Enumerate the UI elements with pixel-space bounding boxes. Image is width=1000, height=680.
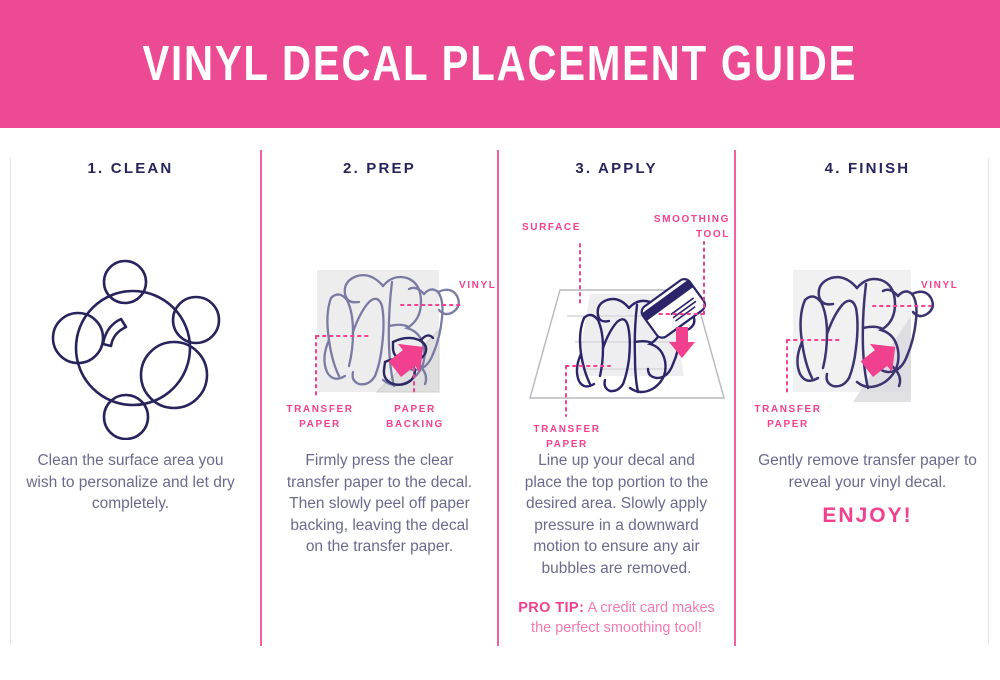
- header-banner: VINYL DECAL PLACEMENT GUIDE: [0, 0, 1000, 128]
- step-column-clean: 1. CLEAN Clean the surface area you wish…: [0, 150, 261, 650]
- enjoy-text: ENJOY!: [757, 505, 978, 527]
- step-heading-prep: 2. PREP: [261, 150, 498, 190]
- bubbles-illustration: [0, 190, 261, 440]
- callout-transfer-paper-apply: TRANSFER PAPER: [518, 422, 616, 452]
- callout-vinyl-prep: VINYL: [459, 278, 496, 293]
- illustration-finish: VINYL TRANSFER PAPER: [735, 190, 1000, 440]
- step-body-clean: Clean the surface area you wish to perso…: [0, 450, 261, 515]
- steps-row: 1. CLEAN Clean the surface area you wish…: [0, 150, 1000, 650]
- bubble-highlight: [103, 319, 126, 346]
- callout-paper-backing-prep: PAPER BACKING: [371, 402, 459, 432]
- callout-transfer-paper-prep: TRANSFER PAPER: [277, 402, 363, 432]
- pro-tip-apply: PRO TIP: A credit card makes the perfect…: [498, 598, 735, 638]
- illustration-apply: SURFACE SMOOTHING TOOL TRANSFER PAPER: [498, 190, 735, 440]
- infographic-page: VINYL DECAL PLACEMENT GUIDE 1. CLEAN: [0, 0, 1000, 680]
- page-title: VINYL DECAL PLACEMENT GUIDE: [143, 40, 858, 89]
- step-column-finish: 4. FINISH: [735, 150, 1000, 650]
- step-body-finish: Gently remove transfer paper to reveal y…: [735, 450, 1000, 527]
- step-heading-finish: 4. FINISH: [735, 150, 1000, 190]
- step-heading-clean: 1. CLEAN: [0, 150, 261, 190]
- step-body-finish-text: Gently remove transfer paper to reveal y…: [758, 452, 977, 491]
- illustration-clean: [0, 190, 261, 440]
- callout-surface-apply: SURFACE: [522, 220, 581, 235]
- step-body-apply: Line up your decal and place the top por…: [498, 450, 735, 579]
- step-body-prep: Firmly press the clear transfer paper to…: [261, 450, 498, 558]
- step-column-prep: 2. PREP: [261, 150, 498, 650]
- pro-tip-label: PRO TIP:: [518, 600, 584, 616]
- callout-smoothing-tool-apply: SMOOTHING TOOL: [626, 212, 730, 242]
- step-heading-apply: 3. APPLY: [498, 150, 735, 190]
- illustration-prep: VINYL TRANSFER PAPER PAPER BACKING: [261, 190, 498, 440]
- callout-vinyl-finish: VINYL: [921, 278, 958, 293]
- callout-transfer-paper-finish: TRANSFER PAPER: [745, 402, 831, 432]
- step-column-apply: 3. APPLY: [498, 150, 735, 650]
